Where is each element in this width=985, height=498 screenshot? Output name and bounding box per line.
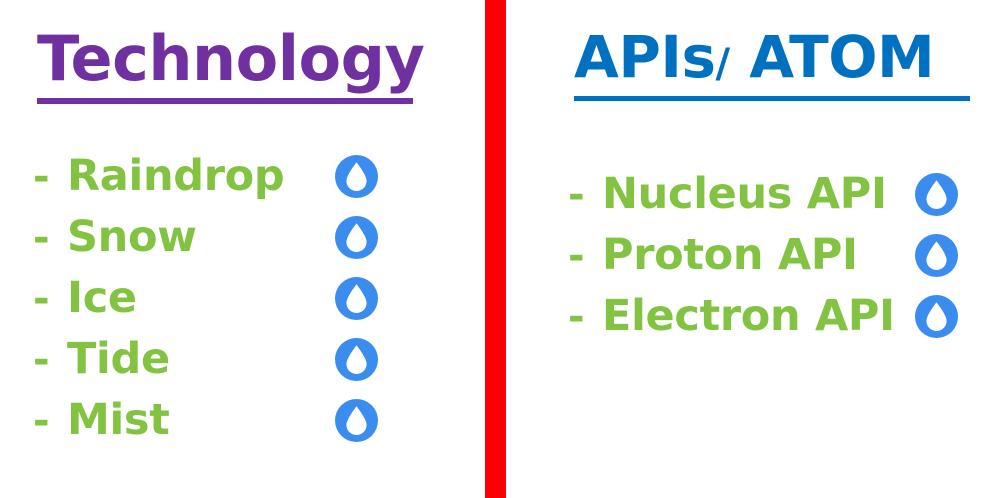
right-heading-main: APIs [574, 23, 716, 91]
list-item-label: Raindrop [67, 155, 284, 198]
water-drop-icon [335, 155, 378, 198]
water-drop-icon [335, 338, 378, 381]
list-item-text-slot: - Snow [33, 216, 335, 259]
list-item-label: Tide [67, 338, 170, 381]
right-heading-tail: ATOM [730, 23, 935, 91]
left-column-heading: Technology [37, 28, 424, 90]
list-item[interactable]: - Nucleus API [568, 164, 958, 225]
left-heading-text: Technology [37, 22, 424, 95]
right-column-heading: APIs/ ATOM [574, 28, 934, 86]
left-heading-underline [37, 98, 413, 104]
technology-list: - Raindrop - Snow [33, 146, 378, 451]
list-item-text-slot: - Nucleus API [568, 173, 915, 216]
list-item-label: Ice [67, 277, 137, 320]
water-drop-icon [335, 277, 378, 320]
list-item[interactable]: - Tide [33, 329, 378, 390]
list-item-label: Snow [67, 216, 197, 259]
list-item-text-slot: - Tide [33, 338, 335, 381]
list-item[interactable]: - Electron API [568, 286, 958, 347]
list-item-label: Nucleus API [602, 173, 887, 216]
list-item-text-slot: - Proton API [568, 234, 915, 277]
list-item-text-slot: - Raindrop [33, 155, 335, 198]
bullet-dash: - [568, 175, 602, 215]
water-drop-icon [915, 234, 958, 277]
water-drop-icon [915, 295, 958, 338]
right-heading-slash: / [716, 41, 730, 87]
right-column: APIs/ ATOM - Nucleus API - [506, 0, 985, 498]
list-item[interactable]: - Ice [33, 268, 378, 329]
water-drop-icon [335, 399, 378, 442]
bullet-dash: - [33, 218, 67, 258]
list-item-label: Proton API [602, 234, 858, 277]
list-item[interactable]: - Mist [33, 390, 378, 451]
bullet-dash: - [33, 279, 67, 319]
list-item[interactable]: - Snow [33, 207, 378, 268]
list-item-text-slot: - Electron API [568, 295, 915, 338]
list-item-text-slot: - Mist [33, 399, 335, 442]
bullet-dash: - [33, 401, 67, 441]
list-item-label: Electron API [602, 295, 895, 338]
api-list: - Nucleus API - Proton API [568, 164, 958, 347]
red-vertical-divider [485, 0, 506, 498]
list-item-text-slot: - Ice [33, 277, 335, 320]
list-item[interactable]: - Raindrop [33, 146, 378, 207]
bullet-dash: - [33, 157, 67, 197]
water-drop-icon [915, 173, 958, 216]
list-item-label: Mist [67, 399, 169, 442]
water-drop-icon [335, 216, 378, 259]
slide-canvas: Technology - Raindrop - Sn [0, 0, 985, 498]
list-item[interactable]: - Proton API [568, 225, 958, 286]
bullet-dash: - [568, 297, 602, 337]
bullet-dash: - [33, 340, 67, 380]
right-heading-underline [574, 96, 970, 101]
left-column: Technology - Raindrop - Sn [0, 0, 485, 498]
bullet-dash: - [568, 236, 602, 276]
